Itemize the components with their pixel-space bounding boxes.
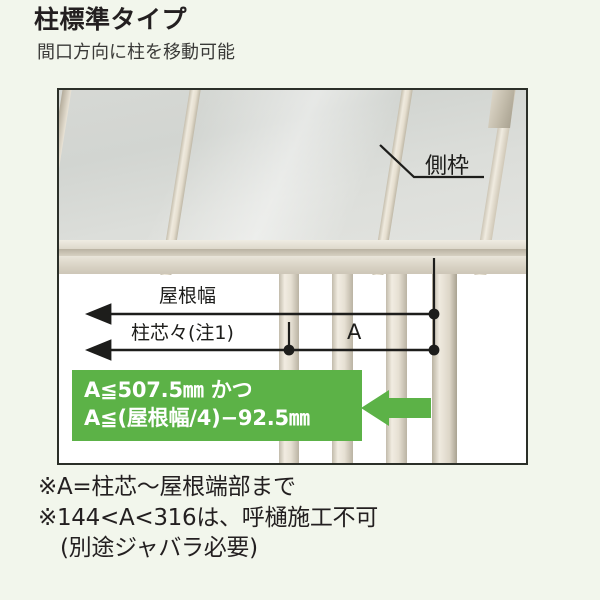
support-post-edge-icon [432, 274, 457, 465]
dimension-label-post-center: 柱芯々(注1) [131, 318, 234, 345]
formula-callout: A≦507.5㎜ かつ A≦(屋根幅/4)−92.5㎜ [72, 370, 362, 441]
formula-arrow-icon [359, 390, 431, 442]
formula-line-2: A≦(屋根幅/4)−92.5㎜ [84, 405, 352, 433]
front-beam-icon [59, 240, 528, 274]
beam-top-face [59, 240, 528, 249]
page-subtitle: 間口方向に柱を移動可能 [37, 42, 574, 64]
beam-front-face [59, 256, 528, 274]
footnote-2: ※144<A<316は、呼樋施工不可 [38, 503, 598, 534]
footnote-3: (別途ジャバラ必要) [38, 533, 598, 564]
formula-line-1: A≦507.5㎜ かつ [84, 377, 352, 405]
beam-shadow-line [59, 249, 528, 256]
figure-panel: 側枠 屋根幅 柱芯々(注1) A A≦507.5㎜ かつ A≦(屋根幅/4)−9… [57, 88, 528, 465]
footnotes-block: ※A=柱芯〜屋根端部まで ※144<A<316は、呼樋施工不可 (別途ジャバラ必… [38, 472, 598, 564]
dimension-label-roof-width: 屋根幅 [159, 281, 216, 308]
footnote-1: ※A=柱芯〜屋根端部まで [38, 472, 598, 503]
dimension-label-a: A [347, 320, 361, 344]
side-frame-label: 側枠 [425, 148, 469, 180]
page-title: 柱標準タイプ [34, 6, 574, 35]
heading-block: 柱標準タイプ 間口方向に柱を移動可能 [34, 6, 574, 63]
